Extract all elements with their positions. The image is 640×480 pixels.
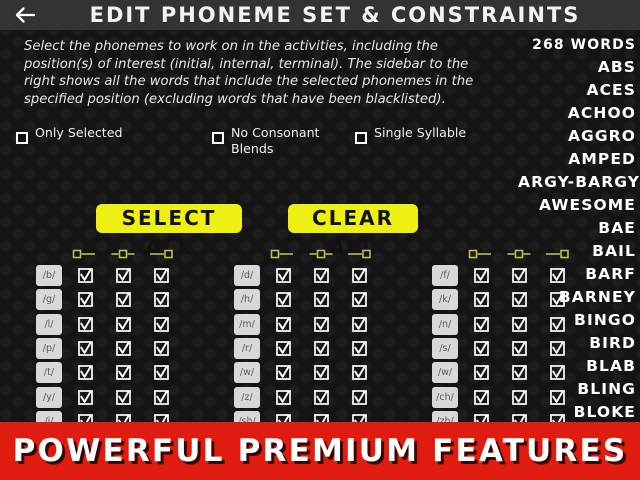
constraint-only-selected[interactable]: Only Selected <box>16 125 140 144</box>
app-header: EDIT PHONEME SET & CONSTRAINTS <box>0 0 640 30</box>
phoneme-position-checkbox[interactable] <box>116 341 131 356</box>
phoneme-chip[interactable]: /g/ <box>36 289 62 310</box>
phoneme-row: /h/ <box>230 289 380 311</box>
phoneme-position-checkbox[interactable] <box>314 268 329 283</box>
phoneme-position-checkbox[interactable] <box>154 341 169 356</box>
premium-promo-banner[interactable]: POWERFUL PREMIUM FEATURES <box>0 422 640 480</box>
phoneme-chip[interactable]: /t/ <box>36 362 62 383</box>
phoneme-row: /b/ <box>32 265 182 287</box>
word-list-item[interactable]: ACHOO <box>518 102 636 125</box>
position-internal-icon[interactable] <box>110 248 136 260</box>
phoneme-position-checkbox[interactable] <box>78 365 93 380</box>
constraint-single-syllable[interactable]: Single Syllable <box>355 125 479 144</box>
position-icons-row <box>70 248 182 260</box>
phoneme-chip[interactable]: /d/ <box>234 265 260 286</box>
phoneme-chip[interactable]: /ch/ <box>432 387 458 408</box>
phoneme-row: /r/ <box>230 338 380 360</box>
phoneme-chip[interactable]: /n/ <box>432 314 458 335</box>
word-list-item[interactable]: BARNEY <box>518 286 636 309</box>
position-initial-icon[interactable] <box>72 248 98 260</box>
phoneme-position-checkbox[interactable] <box>78 317 93 332</box>
phoneme-row: /m/ <box>230 314 380 336</box>
phoneme-chip[interactable]: /r/ <box>234 338 260 359</box>
phoneme-position-checkbox[interactable] <box>116 365 131 380</box>
word-list-item[interactable]: BIRD <box>518 332 636 355</box>
phoneme-chip[interactable]: /y/ <box>36 387 62 408</box>
word-list-item[interactable]: BLOKE <box>518 401 636 424</box>
word-list-item[interactable]: AMPED <box>518 148 636 171</box>
main-content: Select the phonemes to work on in the ac… <box>0 30 518 480</box>
phoneme-position-checkbox[interactable] <box>474 341 489 356</box>
phoneme-position-checkbox[interactable] <box>78 292 93 307</box>
phoneme-position-checkbox[interactable] <box>116 390 131 405</box>
page-title: EDIT PHONEME SET & CONSTRAINTS <box>55 0 615 30</box>
phoneme-position-checkbox[interactable] <box>474 365 489 380</box>
phoneme-position-checkbox[interactable] <box>116 317 131 332</box>
phoneme-row: /w/ <box>230 362 380 384</box>
word-count-label: 268 WORDS <box>518 30 636 56</box>
phoneme-position-checkbox[interactable] <box>352 292 367 307</box>
phoneme-position-checkbox[interactable] <box>474 292 489 307</box>
phoneme-chip[interactable]: /p/ <box>36 338 62 359</box>
constraint-no-consonant-blends[interactable]: No Consonant Blends <box>212 125 336 156</box>
promo-banner-text: POWERFUL PREMIUM FEATURES <box>13 433 628 469</box>
phoneme-position-checkbox[interactable] <box>314 365 329 380</box>
phoneme-position-checkbox[interactable] <box>276 365 291 380</box>
constraint-label: Only Selected <box>35 125 140 141</box>
phoneme-position-checkbox[interactable] <box>154 365 169 380</box>
phoneme-row: /t/ <box>32 362 182 384</box>
phoneme-position-checkbox[interactable] <box>78 268 93 283</box>
phoneme-position-checkbox[interactable] <box>314 341 329 356</box>
word-list-sidebar[interactable]: 268 WORDS ABSACESACHOOAGGROAMPEDARGY-BAR… <box>518 30 640 480</box>
phoneme-row: /d/ <box>230 265 380 287</box>
constraint-label: Single Syllable <box>374 125 479 141</box>
phoneme-chip[interactable]: /l/ <box>36 314 62 335</box>
word-list-item[interactable]: AWESOME <box>518 194 636 217</box>
position-initial-icon[interactable] <box>468 248 494 260</box>
phoneme-position-checkbox[interactable] <box>352 317 367 332</box>
phoneme-position-checkbox[interactable] <box>352 390 367 405</box>
phoneme-row: /g/ <box>32 289 182 311</box>
position-internal-icon[interactable] <box>308 248 334 260</box>
word-list-item[interactable]: BINGO <box>518 309 636 332</box>
checkbox-unchecked-icon[interactable] <box>355 132 367 144</box>
clear-all-button[interactable]: CLEAR ALL <box>288 204 418 233</box>
phoneme-chip[interactable]: /k/ <box>432 289 458 310</box>
edit-phoneme-set-screen: EDIT PHONEME SET & CONSTRAINTS Select th… <box>0 0 640 480</box>
phoneme-row: /p/ <box>32 338 182 360</box>
phoneme-position-checkbox[interactable] <box>116 268 131 283</box>
phoneme-position-checkbox[interactable] <box>276 317 291 332</box>
phoneme-position-checkbox[interactable] <box>276 268 291 283</box>
checkbox-unchecked-icon[interactable] <box>212 132 224 144</box>
word-list-item[interactable]: ACES <box>518 79 636 102</box>
word-list: ABSACESACHOOAGGROAMPEDARGY-BARGYAWESOMEB… <box>518 56 636 447</box>
select-all-button[interactable]: SELECT ALL <box>96 204 242 233</box>
phoneme-position-checkbox[interactable] <box>154 268 169 283</box>
phoneme-position-checkbox[interactable] <box>352 341 367 356</box>
position-terminal-icon[interactable] <box>148 248 174 260</box>
word-list-item[interactable]: BAE <box>518 217 636 240</box>
word-list-item[interactable]: BAIL <box>518 240 636 263</box>
position-icons-row <box>268 248 380 260</box>
phoneme-position-checkbox[interactable] <box>352 365 367 380</box>
phoneme-position-checkbox[interactable] <box>78 390 93 405</box>
word-list-item[interactable]: ABS <box>518 56 636 79</box>
phoneme-position-checkbox[interactable] <box>314 317 329 332</box>
phoneme-position-checkbox[interactable] <box>154 317 169 332</box>
phoneme-chip[interactable]: /m/ <box>234 314 260 335</box>
constraint-label: No Consonant Blends <box>231 125 336 156</box>
phoneme-position-checkbox[interactable] <box>276 341 291 356</box>
phoneme-position-checkbox[interactable] <box>474 268 489 283</box>
phoneme-chip[interactable]: /h/ <box>234 289 260 310</box>
position-terminal-icon[interactable] <box>346 248 372 260</box>
phoneme-position-checkbox[interactable] <box>154 390 169 405</box>
phoneme-row: /z/ <box>230 387 380 409</box>
phoneme-position-checkbox[interactable] <box>474 390 489 405</box>
phoneme-chip[interactable]: /s/ <box>432 338 458 359</box>
position-initial-icon[interactable] <box>270 248 296 260</box>
checkbox-unchecked-icon[interactable] <box>16 132 28 144</box>
back-arrow-icon[interactable] <box>10 4 40 26</box>
phoneme-position-checkbox[interactable] <box>352 268 367 283</box>
phoneme-position-checkbox[interactable] <box>276 390 291 405</box>
word-list-item[interactable]: BARF <box>518 263 636 286</box>
phoneme-chip[interactable]: /w/ <box>234 362 260 383</box>
phoneme-chip[interactable]: /w/ <box>432 362 458 383</box>
phoneme-row: /y/ <box>32 387 182 409</box>
word-list-item[interactable]: ARGY-BARGY <box>518 171 636 194</box>
phoneme-position-checkbox[interactable] <box>474 317 489 332</box>
word-list-item[interactable]: BLING <box>518 378 636 401</box>
constraints-row: Only Selected No Consonant Blends Single… <box>0 125 518 165</box>
phoneme-position-checkbox[interactable] <box>276 292 291 307</box>
phoneme-position-checkbox[interactable] <box>154 292 169 307</box>
phoneme-position-checkbox[interactable] <box>116 292 131 307</box>
word-list-item[interactable]: AGGRO <box>518 125 636 148</box>
phoneme-chip[interactable]: /z/ <box>234 387 260 408</box>
phoneme-position-checkbox[interactable] <box>78 341 93 356</box>
phoneme-position-checkbox[interactable] <box>314 292 329 307</box>
word-list-item[interactable]: BLAB <box>518 355 636 378</box>
phoneme-chip[interactable]: /f/ <box>432 265 458 286</box>
phoneme-position-checkbox[interactable] <box>314 390 329 405</box>
description-text: Select the phonemes to work on in the ac… <box>24 38 494 108</box>
phoneme-chip[interactable]: /b/ <box>36 265 62 286</box>
phoneme-row: /l/ <box>32 314 182 336</box>
